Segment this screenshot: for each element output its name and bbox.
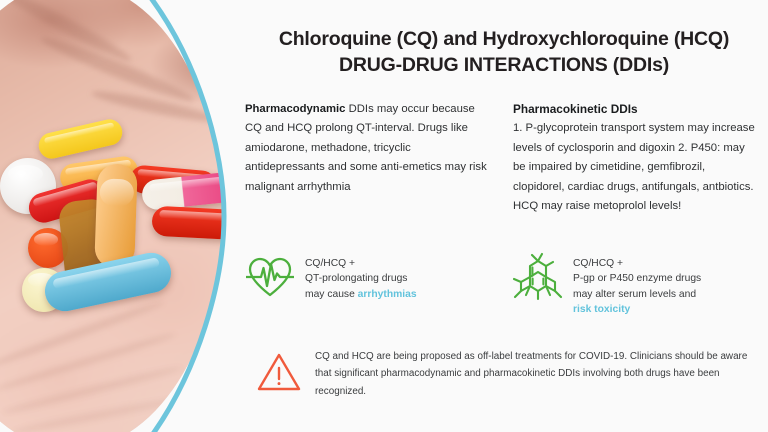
pharmacokinetic-heading: Pharmacokinetic DDIs bbox=[513, 100, 757, 119]
toxicity-line-2: P-gp or P450 enzyme drugs bbox=[573, 271, 701, 286]
toxicity-line-3: may alter serum levels and bbox=[573, 287, 701, 302]
pharmacokinetic-text: 1. P-glycoprotein transport system may i… bbox=[513, 119, 757, 216]
footnote-disclaimer: CQ and HCQ are being proposed as off-lab… bbox=[255, 346, 760, 400]
pill-red-capsule-lower-right bbox=[151, 206, 232, 241]
arrhythmia-caption: CQ/HCQ + QT-prolongating drugs may cause… bbox=[305, 252, 417, 302]
two-column-body: Pharmacodynamic DDIs may occur because C… bbox=[245, 100, 765, 216]
pharmacodynamic-heading: Pharmacodynamic bbox=[245, 103, 345, 115]
molecule-icon bbox=[513, 252, 563, 302]
risk-toxicity-accent: risk toxicity bbox=[573, 302, 701, 317]
pill-orange-beige-capsule bbox=[94, 163, 138, 268]
icon-row-toxicity: CQ/HCQ + P-gp or P450 enzyme drugs may a… bbox=[513, 252, 757, 317]
hand-holding-pills-photo bbox=[0, 0, 232, 432]
icon-summary-rows: CQ/HCQ + QT-prolongating drugs may cause… bbox=[245, 252, 765, 317]
arrhythmias-accent: arrhythmias bbox=[358, 289, 417, 300]
arrhythmia-line-1: CQ/HCQ + bbox=[305, 256, 417, 271]
page-title: Chloroquine (CQ) and Hydroxychloroquine … bbox=[249, 26, 759, 78]
column-pharmacokinetic: Pharmacokinetic DDIs 1. P-glycoprotein t… bbox=[513, 100, 757, 216]
toxicity-line-1: CQ/HCQ + bbox=[573, 256, 701, 271]
title-line-1: Chloroquine (CQ) and Hydroxychloroquine … bbox=[249, 26, 759, 52]
warning-triangle-icon bbox=[255, 346, 303, 394]
footnote-text: CQ and HCQ are being proposed as off-lab… bbox=[315, 346, 760, 400]
arrhythmia-line-3-prefix: may cause bbox=[305, 289, 358, 300]
content-panel: Chloroquine (CQ) and Hydroxychloroquine … bbox=[235, 0, 768, 432]
arrhythmia-line-2: QT-prolongating drugs bbox=[305, 271, 417, 286]
icon-row-arrhythmia: CQ/HCQ + QT-prolongating drugs may cause… bbox=[245, 252, 489, 317]
heart-ecg-icon bbox=[245, 252, 295, 302]
toxicity-caption: CQ/HCQ + P-gp or P450 enzyme drugs may a… bbox=[573, 252, 701, 317]
arrhythmia-line-3: may cause arrhythmias bbox=[305, 287, 417, 302]
title-line-2: DRUG-DRUG INTERACTIONS (DDIs) bbox=[249, 52, 759, 78]
photo-panel bbox=[0, 0, 235, 432]
pharmacodynamic-text: DDIs may occur because CQ and HCQ prolon… bbox=[245, 103, 487, 193]
slide-root: Chloroquine (CQ) and Hydroxychloroquine … bbox=[0, 0, 768, 432]
pharmacodynamic-paragraph: Pharmacodynamic DDIs may occur because C… bbox=[245, 100, 489, 197]
column-pharmacodynamic: Pharmacodynamic DDIs may occur because C… bbox=[245, 100, 489, 216]
